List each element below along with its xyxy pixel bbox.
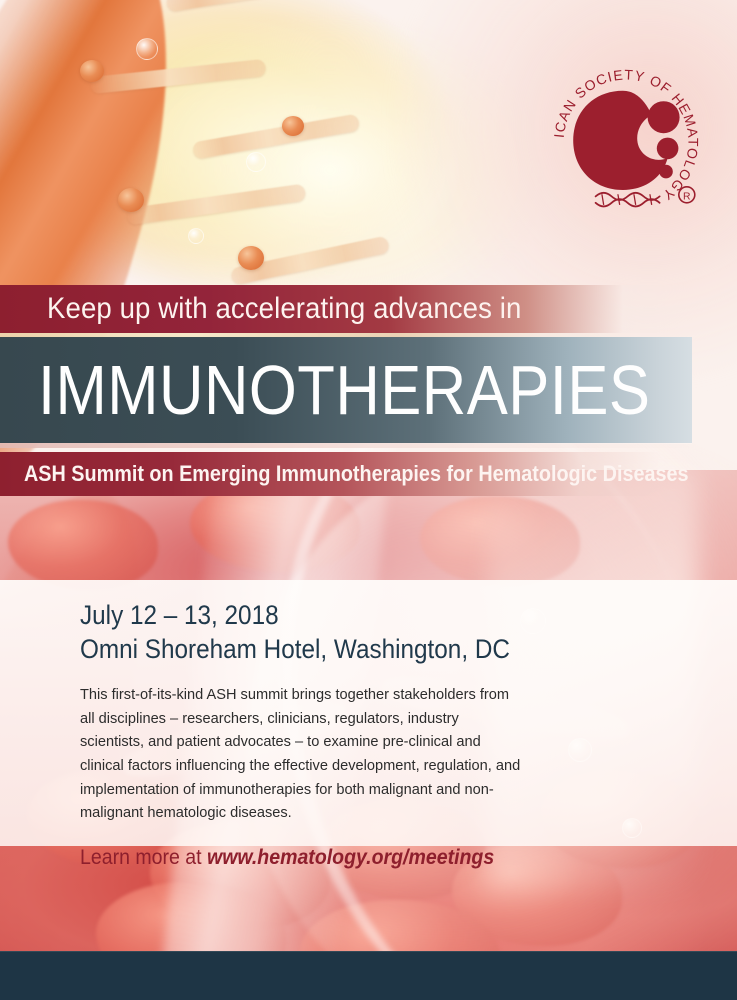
dna-rung xyxy=(192,114,360,160)
registered-mark-letter: R xyxy=(683,192,691,203)
ash-logo-circle-medium xyxy=(657,138,679,160)
ash-logo-circle-small xyxy=(659,165,673,179)
dna-rung xyxy=(166,0,335,12)
ash-logo-dna-motif xyxy=(596,193,660,207)
dna-knob xyxy=(282,116,304,136)
cta-url[interactable]: www.hematology.org/meetings xyxy=(207,846,494,869)
cta-prefix: Learn more at xyxy=(80,846,207,869)
dna-knob xyxy=(80,60,104,82)
kicker-text: Keep up with accelerating advances in xyxy=(47,292,521,326)
bubble xyxy=(246,152,266,172)
dna-knob xyxy=(238,246,264,270)
dna-rung xyxy=(126,184,307,226)
dna-knob xyxy=(118,188,144,212)
event-date: July 12 – 13, 2018 xyxy=(80,598,503,632)
poster: AMERICAN SOCIETY OF HEMATOLOGY R Keep up… xyxy=(0,0,737,1000)
event-venue: Omni Shoreham Hotel, Washington, DC xyxy=(80,632,503,666)
poster-title: IMMUNOTHERAPIES xyxy=(38,355,650,425)
ash-logo-circle-large xyxy=(648,101,680,133)
footer-bar xyxy=(0,951,737,1000)
subtitle-band: ASH Summit on Emerging Immunotherapies f… xyxy=(0,452,660,496)
poster-subtitle: ASH Summit on Emerging Immunotherapies f… xyxy=(24,461,689,487)
bubble xyxy=(136,38,158,60)
kicker-band: Keep up with accelerating advances in xyxy=(0,285,692,333)
event-info: July 12 – 13, 2018 Omni Shoreham Hotel, … xyxy=(80,598,550,870)
cell-blob xyxy=(8,500,158,590)
title-band: IMMUNOTHERAPIES xyxy=(0,337,692,443)
pink-rule xyxy=(0,443,700,448)
ash-logo: AMERICAN SOCIETY OF HEMATOLOGY R xyxy=(546,62,706,222)
call-to-action: Learn more at www.hematology.org/meeting… xyxy=(80,846,517,870)
bubble xyxy=(188,228,204,244)
event-description: This first-of-its-kind ASH summit brings… xyxy=(80,684,526,826)
